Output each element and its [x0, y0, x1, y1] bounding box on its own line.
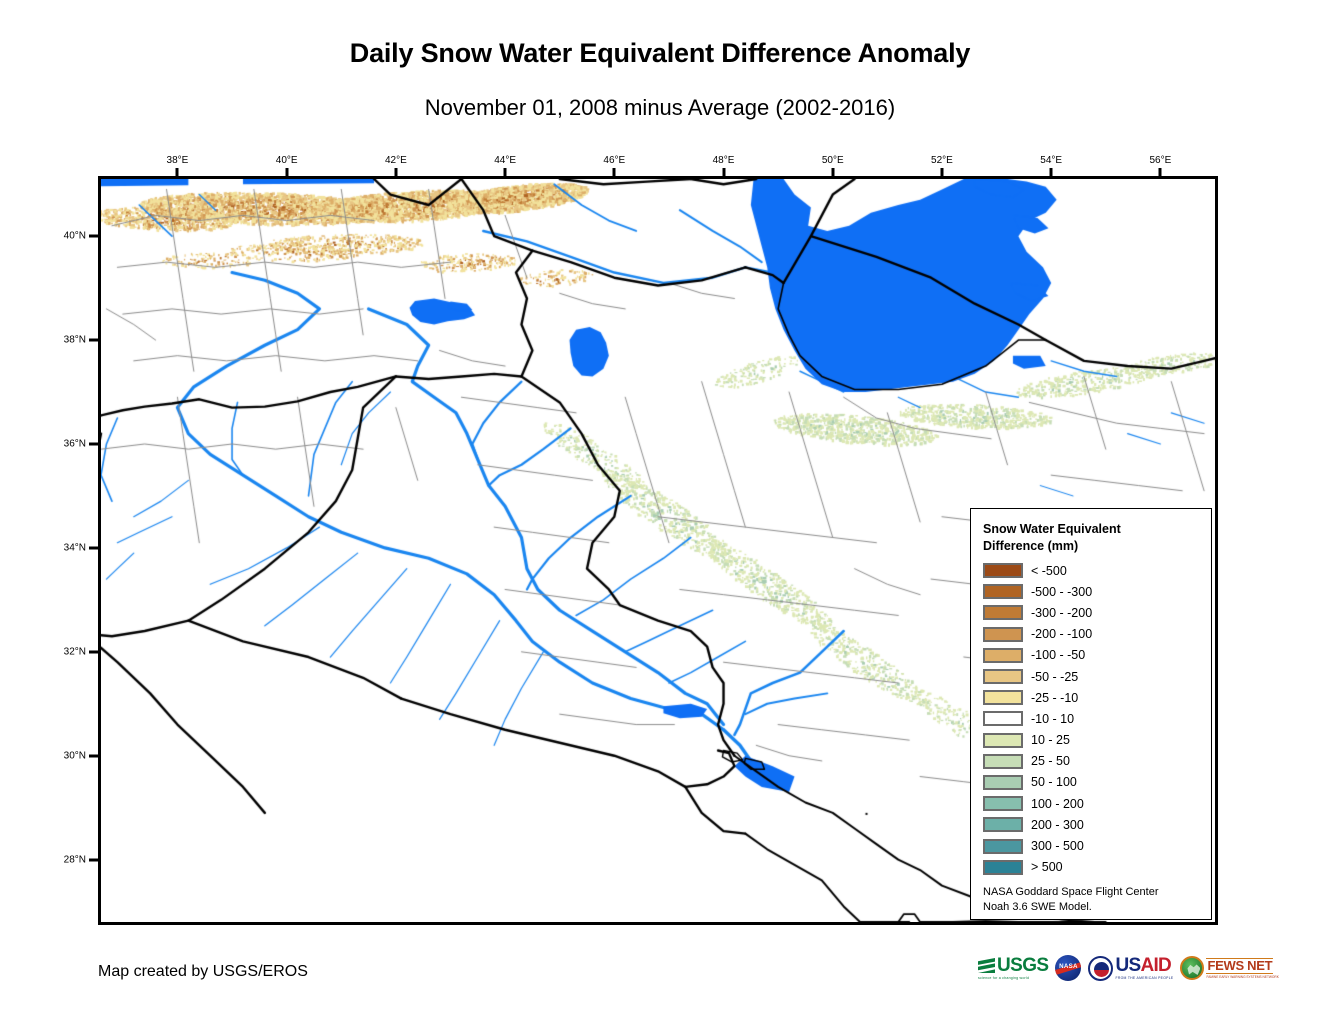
- legend-label: < -500: [1031, 564, 1067, 578]
- map-page: Daily Snow Water Equivalent Difference A…: [0, 0, 1320, 1020]
- lat-tick-mark: [89, 442, 98, 445]
- legend-label: > 500: [1031, 860, 1063, 874]
- legend-swatch: [983, 669, 1023, 684]
- legend-label: 100 - 200: [1031, 797, 1084, 811]
- legend-row: -200 - -100: [983, 624, 1201, 645]
- fews-logo[interactable]: FEWS NET FAMINE EARLY WARNING SYSTEMS NE…: [1180, 956, 1278, 980]
- lon-tick-label: 52°E: [931, 155, 953, 166]
- legend-row: -50 - -25: [983, 666, 1201, 687]
- legend-swatch: [983, 627, 1023, 642]
- legend-row: -100 - -50: [983, 645, 1201, 666]
- lat-tick-label: 34°N: [40, 542, 86, 553]
- lon-tick-label: 40°E: [276, 155, 298, 166]
- legend-label: 200 - 300: [1031, 818, 1084, 832]
- legend-label: 300 - 500: [1031, 839, 1084, 853]
- legend-swatch: [983, 817, 1023, 832]
- fews-globe-icon: [1180, 956, 1204, 980]
- logo-strip: USGS science for a changing world USAID …: [978, 955, 1279, 981]
- nasa-logo[interactable]: [1055, 955, 1081, 981]
- page-title: Daily Snow Water Equivalent Difference A…: [0, 38, 1320, 69]
- legend-row: < -500: [983, 560, 1201, 581]
- usgs-logo[interactable]: USGS science for a changing world: [978, 956, 1048, 980]
- legend-row: > 500: [983, 857, 1201, 878]
- lat-tick-mark: [89, 754, 98, 757]
- lat-tick-label: 32°N: [40, 646, 86, 657]
- legend-swatch: [983, 839, 1023, 854]
- lon-tick-label: 50°E: [822, 155, 844, 166]
- lat-tick-mark: [89, 235, 98, 238]
- legend-label: 10 - 25: [1031, 733, 1070, 747]
- legend-row: -25 - -10: [983, 687, 1201, 708]
- lat-tick-label: 38°N: [40, 335, 86, 346]
- legend-label: -10 - 10: [1031, 712, 1074, 726]
- legend-row: 10 - 25: [983, 730, 1201, 751]
- legend-label: -500 - -300: [1031, 585, 1092, 599]
- lat-tick-label: 28°N: [40, 854, 86, 865]
- legend-label: -25 - -10: [1031, 691, 1078, 705]
- legend-source-note: NASA Goddard Space Flight Center Noah 3.…: [983, 885, 1201, 915]
- legend-row: -300 - -200: [983, 602, 1201, 623]
- legend-label: 50 - 100: [1031, 775, 1077, 789]
- legend-swatch: [983, 690, 1023, 705]
- legend-swatch: [983, 860, 1023, 875]
- legend-label: -300 - -200: [1031, 606, 1092, 620]
- lon-tick-label: 54°E: [1040, 155, 1062, 166]
- legend-swatch: [983, 775, 1023, 790]
- legend-row: -500 - -300: [983, 581, 1201, 602]
- lon-tick-label: 44°E: [494, 155, 516, 166]
- legend-items: < -500-500 - -300-300 - -200-200 - -100-…: [983, 560, 1201, 878]
- fews-logo-tagline: FAMINE EARLY WARNING SYSTEMS NETWORK: [1206, 975, 1278, 979]
- lat-tick-label: 40°N: [40, 231, 86, 242]
- nasa-meatball-icon: [1055, 955, 1081, 981]
- fews-logo-text: FEWS NET: [1206, 958, 1273, 974]
- usgs-logo-text: USGS: [997, 956, 1048, 975]
- legend-swatch: [983, 711, 1023, 726]
- legend-swatch: [983, 754, 1023, 769]
- legend-panel: Snow Water Equivalent Difference (mm) < …: [970, 508, 1212, 920]
- legend-row: 100 - 200: [983, 793, 1201, 814]
- legend-swatch: [983, 796, 1023, 811]
- usaid-seal-icon: [1088, 956, 1113, 981]
- lat-tick-mark: [89, 858, 98, 861]
- legend-swatch: [983, 733, 1023, 748]
- legend-label: -200 - -100: [1031, 627, 1092, 641]
- legend-swatch: [983, 648, 1023, 663]
- legend-title: Snow Water Equivalent Difference (mm): [983, 521, 1201, 554]
- legend-row: 50 - 100: [983, 772, 1201, 793]
- usgs-wave-icon: [978, 958, 995, 973]
- legend-label: 25 - 50: [1031, 754, 1070, 768]
- lat-tick-label: 36°N: [40, 438, 86, 449]
- lat-tick-mark: [89, 650, 98, 653]
- legend-swatch: [983, 584, 1023, 599]
- usaid-logo-text: USAID: [1115, 956, 1171, 975]
- lat-tick-mark: [89, 339, 98, 342]
- legend-row: -10 - 10: [983, 708, 1201, 729]
- usaid-logo[interactable]: USAID FROM THE AMERICAN PEOPLE: [1088, 956, 1173, 981]
- usgs-logo-tagline: science for a changing world: [978, 976, 1029, 980]
- lon-tick-label: 38°E: [167, 155, 189, 166]
- legend-swatch: [983, 563, 1023, 578]
- legend-label: -50 - -25: [1031, 670, 1078, 684]
- legend-row: 200 - 300: [983, 814, 1201, 835]
- usaid-logo-tagline: FROM THE AMERICAN PEOPLE: [1115, 976, 1173, 980]
- lon-tick-label: 42°E: [385, 155, 407, 166]
- map-credit: Map created by USGS/EROS: [98, 963, 308, 981]
- lon-tick-label: 56°E: [1149, 155, 1171, 166]
- legend-swatch: [983, 605, 1023, 620]
- lat-tick-mark: [89, 546, 98, 549]
- lat-tick-label: 30°N: [40, 750, 86, 761]
- legend-row: 300 - 500: [983, 835, 1201, 856]
- lon-tick-label: 48°E: [713, 155, 735, 166]
- page-subtitle: November 01, 2008 minus Average (2002-20…: [0, 95, 1320, 121]
- legend-label: -100 - -50: [1031, 648, 1085, 662]
- lon-tick-label: 46°E: [603, 155, 625, 166]
- legend-row: 25 - 50: [983, 751, 1201, 772]
